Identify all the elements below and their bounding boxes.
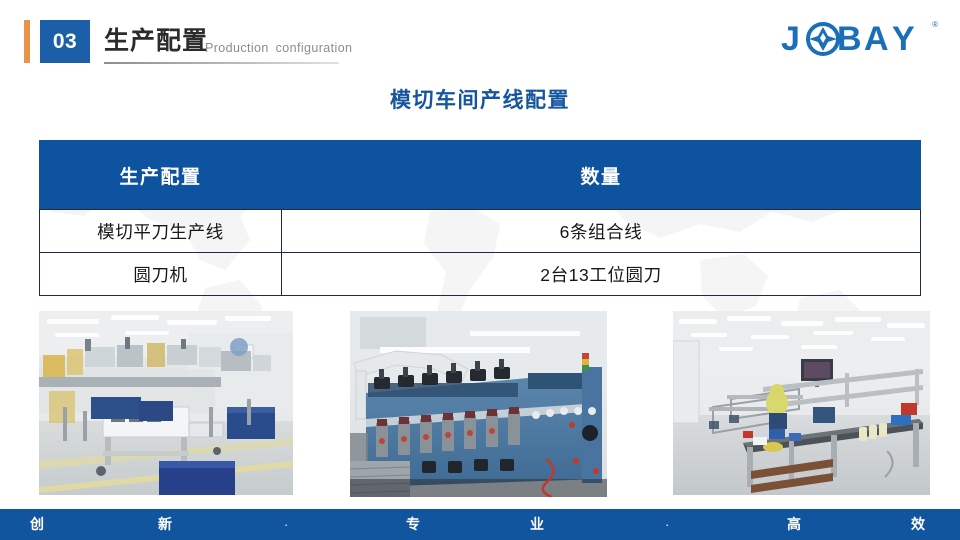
die-cutting-flatbed-production-line-photo <box>39 311 293 495</box>
footer-item-3: 专 <box>406 509 421 540</box>
column-header-config: 生产配置 <box>40 141 282 210</box>
assembly-workshop-photo <box>673 311 930 495</box>
svg-text:Y: Y <box>892 20 915 58</box>
footer-item-1: 新 <box>158 509 173 540</box>
jobay-logo: J B A Y ® <box>781 18 938 60</box>
header-underline <box>104 62 339 64</box>
cell-config: 模切平刀生产线 <box>40 210 282 253</box>
cell-quantity: 2台13工位圆刀 <box>282 253 921 296</box>
cell-quantity: 6条组合线 <box>282 210 921 253</box>
table-header-row: 生产配置 数量 <box>40 141 921 210</box>
rotary-die-cutting-machine-photo <box>350 311 607 497</box>
footer-item-5: · <box>665 509 669 540</box>
slide-canvas: 03 生产配置 Production configuration J B A Y… <box>0 0 960 540</box>
footer-item-2: · <box>284 509 288 540</box>
footer-bar: 创 新 · 专 业 · 高 效 <box>0 509 960 540</box>
footer-item-7: 效 <box>911 509 926 540</box>
production-configuration-table: 生产配置 数量 模切平刀生产线 6条组合线 圆刀机 2台13工位圆刀 <box>39 140 921 296</box>
footer-item-6: 高 <box>787 509 802 540</box>
footer-item-4: 业 <box>530 509 545 540</box>
cell-config: 圆刀机 <box>40 253 282 296</box>
jobay-wordmark-icon: J B A Y <box>781 19 931 59</box>
section-number-badge: 03 <box>40 20 90 63</box>
header-title-cn: 生产配置 <box>104 26 208 56</box>
registered-trademark-icon: ® <box>932 20 938 29</box>
table-row: 模切平刀生产线 6条组合线 <box>40 210 921 253</box>
table-row: 圆刀机 2台13工位圆刀 <box>40 253 921 296</box>
svg-text:A: A <box>864 20 889 58</box>
column-header-quantity: 数量 <box>282 141 921 210</box>
footer-item-0: 创 <box>30 509 45 540</box>
page-title: 模切车间产线配置 <box>0 84 960 114</box>
svg-text:B: B <box>837 20 862 58</box>
header-title-en: Production configuration <box>205 41 352 55</box>
header-accent-bar <box>24 20 30 63</box>
svg-text:J: J <box>781 20 800 58</box>
